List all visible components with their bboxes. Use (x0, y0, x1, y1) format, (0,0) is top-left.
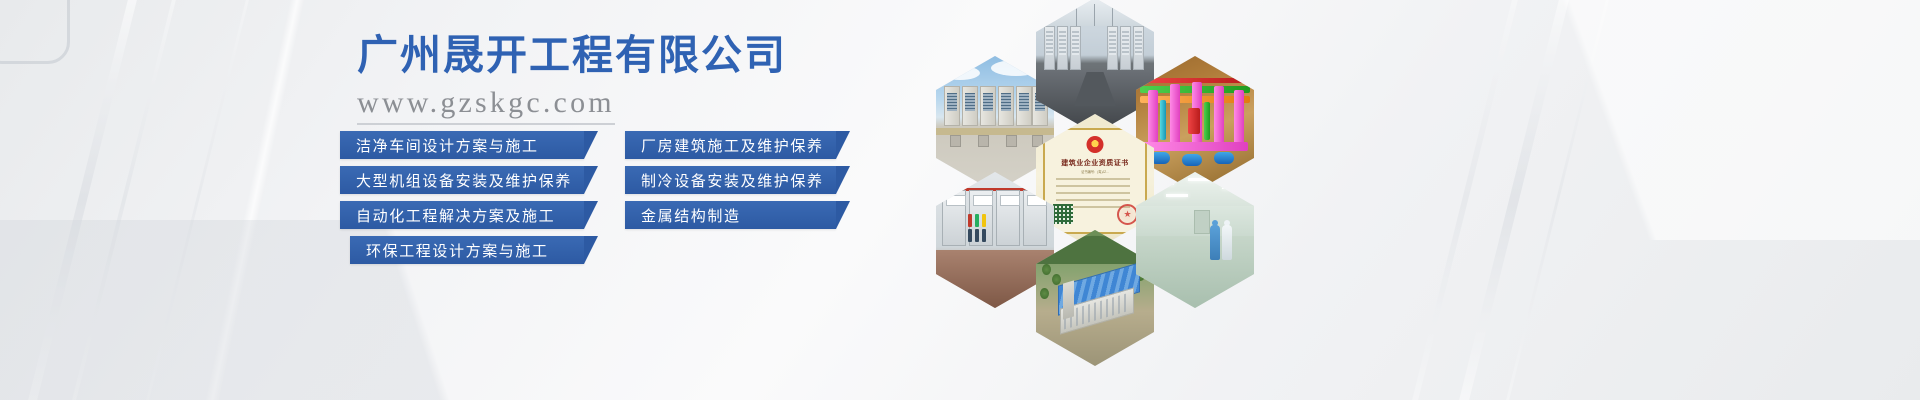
service-tag-cleanroom[interactable]: 洁净车间设计方案与施工 (340, 131, 584, 159)
service-tag-plant-construction[interactable]: 厂房建筑施工及维护保养 (625, 131, 836, 159)
service-tag-label: 大型机组设备安装及维护保养 (340, 170, 584, 191)
service-tag-column-right: 厂房建筑施工及维护保养 制冷设备安装及维护保养 金属结构制造 (625, 131, 836, 236)
company-name: 广州晟开工程有限公司 (357, 32, 977, 79)
service-tag-column-left: 洁净车间设计方案与施工 大型机组设备安装及维护保养 自动化工程解决方案及施工 环… (340, 131, 584, 271)
site-banner: 广州晟开工程有限公司 www.gzskgc.com 洁净车间设计方案与施工 大型… (0, 0, 1920, 400)
service-tag-label: 金属结构制造 (625, 205, 823, 226)
service-tag-label: 洁净车间设计方案与施工 (340, 135, 554, 156)
corner-accent (0, 0, 70, 64)
brand-block: 广州晟开工程有限公司 www.gzskgc.com (357, 32, 977, 125)
cleanroom-worker (1222, 220, 1232, 260)
background-streak (136, 0, 259, 400)
cleanroom-worker (1210, 220, 1220, 260)
national-emblem-icon (1087, 136, 1104, 153)
service-tag-automation[interactable]: 自动化工程解决方案及施工 (340, 201, 584, 229)
background-streak (1449, 0, 1579, 400)
qr-code-icon (1053, 204, 1073, 224)
certificate-number: 证书编号：(粤)JZ... (1036, 169, 1154, 174)
hexagon-photo-cluster: 建筑业企业资质证书 证书编号：(粤)JZ... (930, 0, 1350, 400)
service-tag-label: 厂房建筑施工及维护保养 (625, 135, 836, 156)
service-tag-label: 环保工程设计方案与施工 (350, 240, 564, 261)
certificate-title: 建筑业企业资质证书 (1036, 158, 1154, 168)
service-tag-large-equipment[interactable]: 大型机组设备安装及维护保养 (340, 166, 584, 194)
service-tag-label: 自动化工程解决方案及施工 (340, 205, 567, 226)
service-tag-environmental[interactable]: 环保工程设计方案与施工 (350, 236, 584, 264)
service-tag-refrigeration[interactable]: 制冷设备安装及维护保养 (625, 166, 836, 194)
service-tag-metal-structure[interactable]: 金属结构制造 (625, 201, 836, 229)
official-seal-icon (1117, 204, 1138, 225)
website-url[interactable]: www.gzskgc.com (357, 86, 615, 125)
service-tag-label: 制冷设备安装及维护保养 (625, 170, 836, 191)
